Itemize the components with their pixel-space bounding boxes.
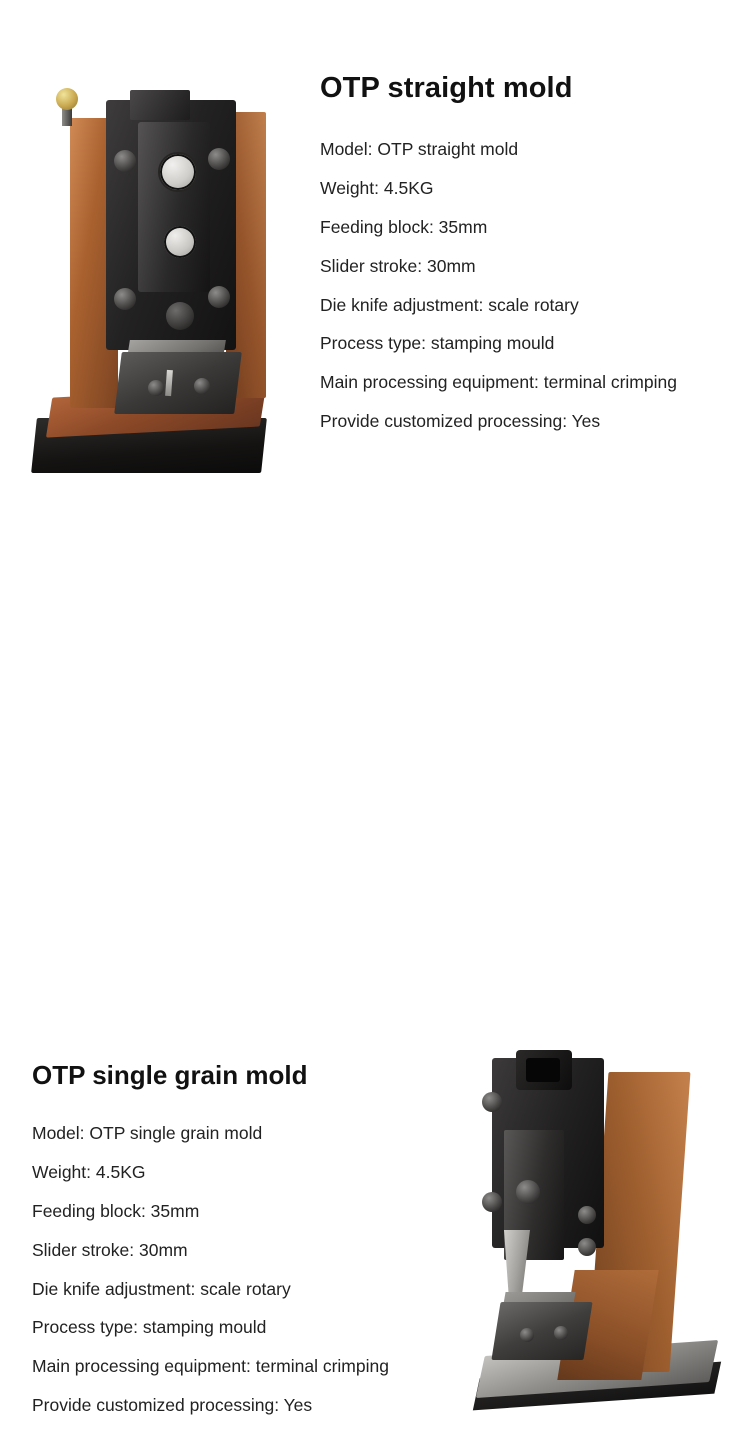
product-block-straight-mold: OTP straight mold Model: OTP straight mo… — [0, 0, 750, 500]
spec-model: Model: OTP straight mold — [320, 139, 740, 161]
bolt-icon — [482, 1192, 502, 1212]
spec-main-processing-equipment: Main processing equipment: terminal crim… — [32, 1356, 492, 1378]
spec-die-knife-adjustment: Die knife adjustment: scale rotary — [32, 1279, 492, 1301]
spec-feeding-block: Feeding block: 35mm — [32, 1201, 492, 1223]
bolt-icon — [208, 148, 230, 170]
scale-dial-upper-icon — [158, 152, 198, 192]
spec-model: Model: OTP single grain mold — [32, 1123, 492, 1145]
brass-knob-icon — [56, 88, 78, 110]
bolt-icon — [482, 1092, 502, 1112]
spec-process-type: Process type: stamping mould — [320, 333, 740, 355]
spec-process-type: Process type: stamping mould — [32, 1317, 492, 1339]
product-block-single-grain-mold: OTP single grain mold Model: OTP single … — [0, 500, 750, 931]
spec-customized-processing: Provide customized processing: Yes — [32, 1395, 492, 1417]
page-title: OTP straight mold — [320, 72, 740, 105]
machine-illustration-single-grain — [470, 1030, 740, 1430]
machine-slot-hole — [526, 1058, 560, 1082]
bolt-icon — [554, 1326, 568, 1340]
bolt-icon — [578, 1206, 596, 1224]
machine-illustration-straight — [18, 40, 308, 490]
bolt-icon — [148, 380, 164, 396]
bolt-icon — [208, 286, 230, 308]
machine-anvil — [491, 1302, 592, 1360]
bolt-icon — [516, 1180, 540, 1204]
bolt-icon — [520, 1328, 534, 1342]
machine-face-plate — [138, 122, 210, 292]
bolt-icon — [114, 150, 136, 172]
bolt-icon — [194, 378, 210, 394]
product-info-straight-mold: OTP straight mold Model: OTP straight mo… — [320, 72, 740, 450]
product-image-straight-mold — [18, 40, 308, 490]
spec-customized-processing: Provide customized processing: Yes — [320, 411, 740, 433]
spec-weight: Weight: 4.5KG — [320, 178, 740, 200]
spec-weight: Weight: 4.5KG — [32, 1162, 492, 1184]
machine-top-block — [130, 90, 190, 120]
spec-main-processing-equipment: Main processing equipment: terminal crim… — [320, 372, 740, 394]
adjust-knob-icon — [166, 302, 194, 330]
bolt-icon — [578, 1238, 596, 1256]
bolt-icon — [114, 288, 136, 310]
product-info-single-grain-mold: OTP single grain mold Model: OTP single … — [32, 1060, 492, 1434]
spec-slider-stroke: Slider stroke: 30mm — [320, 256, 740, 278]
spec-slider-stroke: Slider stroke: 30mm — [32, 1240, 492, 1262]
spec-feeding-block: Feeding block: 35mm — [320, 217, 740, 239]
product-image-single-grain-mold — [470, 1030, 740, 1430]
scale-dial-lower-icon — [164, 226, 196, 258]
section-title: OTP single grain mold — [32, 1060, 492, 1091]
spec-die-knife-adjustment: Die knife adjustment: scale rotary — [320, 295, 740, 317]
machine-anvil — [114, 352, 242, 414]
